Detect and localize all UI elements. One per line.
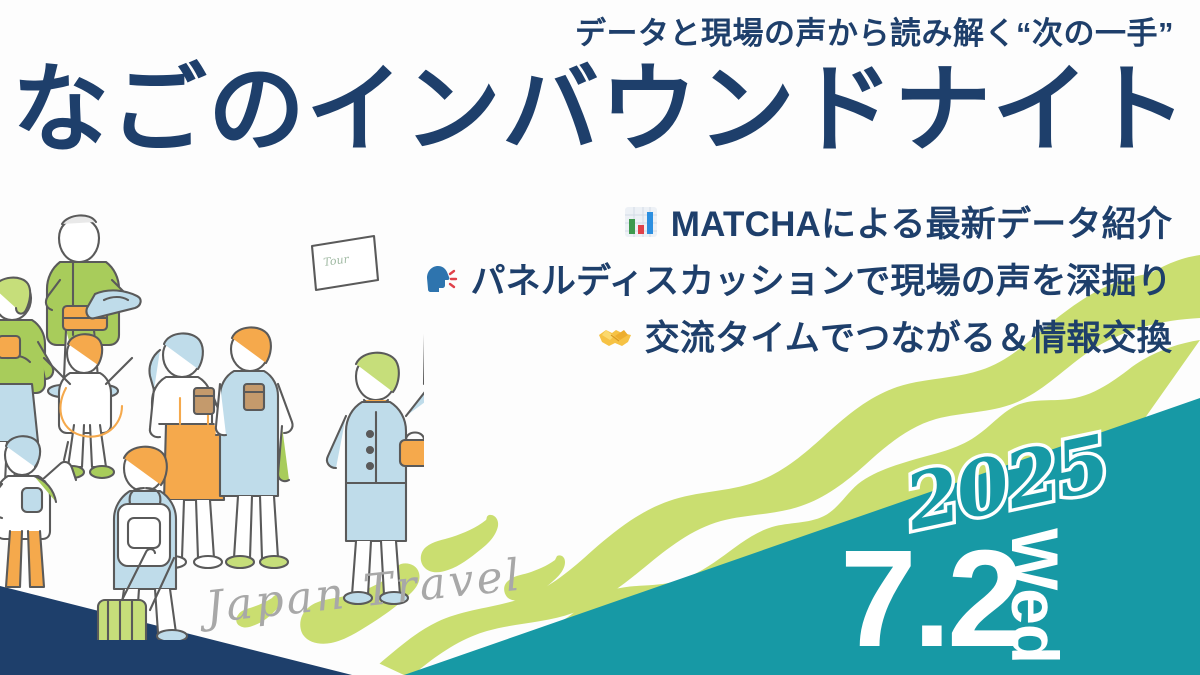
handshake-icon: [597, 318, 633, 354]
figure-girl-orange-hair: [216, 327, 293, 568]
list-item: MATCHAによる最新データ紹介: [623, 196, 1172, 247]
figure-child-pointing: [0, 436, 76, 587]
figure-child-swinging: [44, 334, 132, 478]
list-item-label: 交流タイムでつながる＆情報交換: [645, 310, 1172, 361]
kicker-text: データと現場の声から読み解く“次の一手”: [0, 8, 1174, 53]
page-title: なごのインバウンドナイト: [0, 58, 1200, 163]
event-banner: Tour データと現場の声から読み解く“次の一手” なごのインバウンドナイト M…: [0, 0, 1200, 675]
list-item-label: MATCHAによる最新データ紹介: [671, 196, 1172, 247]
highlights-list: MATCHAによる最新データ紹介 パネルディスカッションで現場の声を深掘り: [422, 196, 1172, 361]
figure-tour-guide: [312, 236, 424, 604]
list-item: 交流タイムでつながる＆情報交換: [597, 310, 1172, 361]
list-item-label: パネルディスカッションで現場の声を深掘り: [470, 253, 1172, 304]
speaking-head-icon: [422, 261, 458, 297]
list-item: パネルディスカッションで現場の声を深掘り: [422, 253, 1172, 304]
event-day: 7.2: [840, 530, 1020, 668]
event-weekday: Wed: [1002, 528, 1068, 660]
bar-chart-icon: [623, 204, 659, 240]
